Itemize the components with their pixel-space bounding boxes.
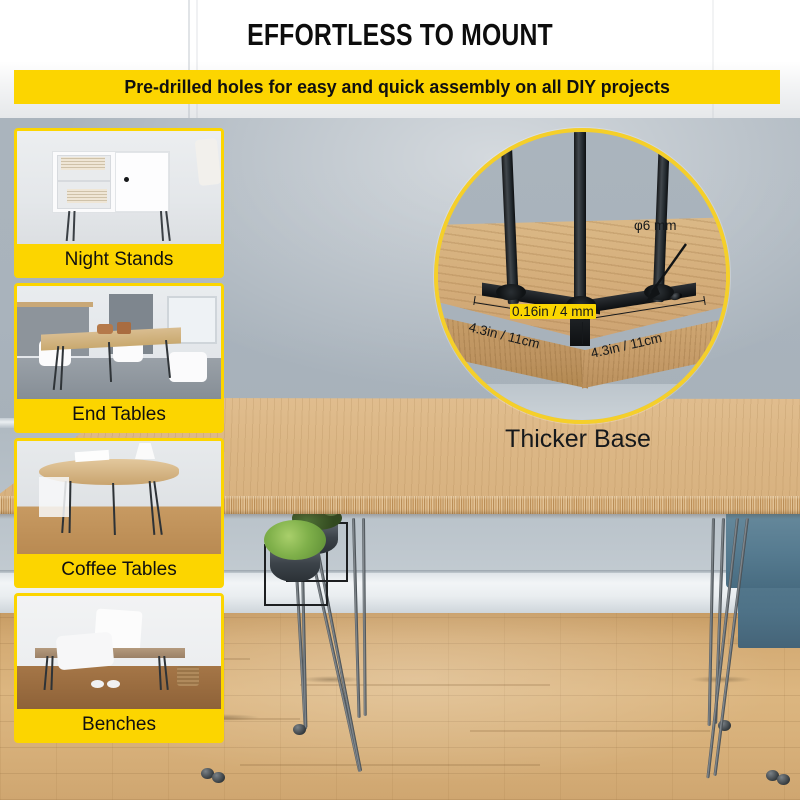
hairpin-leg-foot (293, 724, 306, 735)
hairpin-leg-foot (212, 772, 225, 783)
card-photo-benches (17, 596, 221, 709)
use-case-card-coffee-tables[interactable]: Coffee Tables (14, 438, 224, 588)
plate-thickness-label: 0.16in / 4 mm (510, 304, 596, 319)
use-case-card-end-tables[interactable]: End Tables (14, 283, 224, 433)
leg-shadow (690, 676, 752, 683)
leg-shadow (300, 676, 362, 683)
use-case-card-benches[interactable]: Benches (14, 593, 224, 743)
use-case-card-night-stands[interactable]: Night Stands (14, 128, 224, 278)
weld-joint (496, 284, 526, 300)
detail-callout-circle: φ6 mm 0.16in / 4 mm 4.3in / 11cm 4.3in /… (434, 128, 730, 424)
card-label-benches: Benches (17, 709, 221, 740)
hairpin-leg-rod (352, 518, 361, 718)
callout-caption: Thicker Base (434, 425, 722, 454)
page-title: EFFORTLESS TO MOUNT (80, 18, 720, 52)
product-infographic: EFFORTLESS TO MOUNT Pre-drilled holes fo… (0, 0, 800, 800)
card-photo-end-tables (17, 286, 221, 399)
subtitle-text: Pre-drilled holes for easy and quick ass… (124, 76, 669, 98)
hole-diameter-label: φ6 mm (634, 218, 677, 233)
hairpin-leg-rod (362, 518, 367, 716)
callout-hairpin-rod (574, 128, 586, 314)
card-photo-night-stands (17, 131, 221, 244)
hairpin-leg-foot (777, 774, 790, 785)
callout-arrow-icon (634, 240, 694, 310)
moss-ball-plant (264, 520, 326, 560)
card-label-end-tables: End Tables (17, 399, 221, 430)
card-label-coffee-tables: Coffee Tables (17, 554, 221, 585)
card-photo-coffee-tables (17, 441, 221, 554)
subtitle-banner: Pre-drilled holes for easy and quick ass… (14, 70, 780, 104)
callout-bottom-glow (434, 318, 730, 424)
card-label-night-stands: Night Stands (17, 244, 221, 275)
